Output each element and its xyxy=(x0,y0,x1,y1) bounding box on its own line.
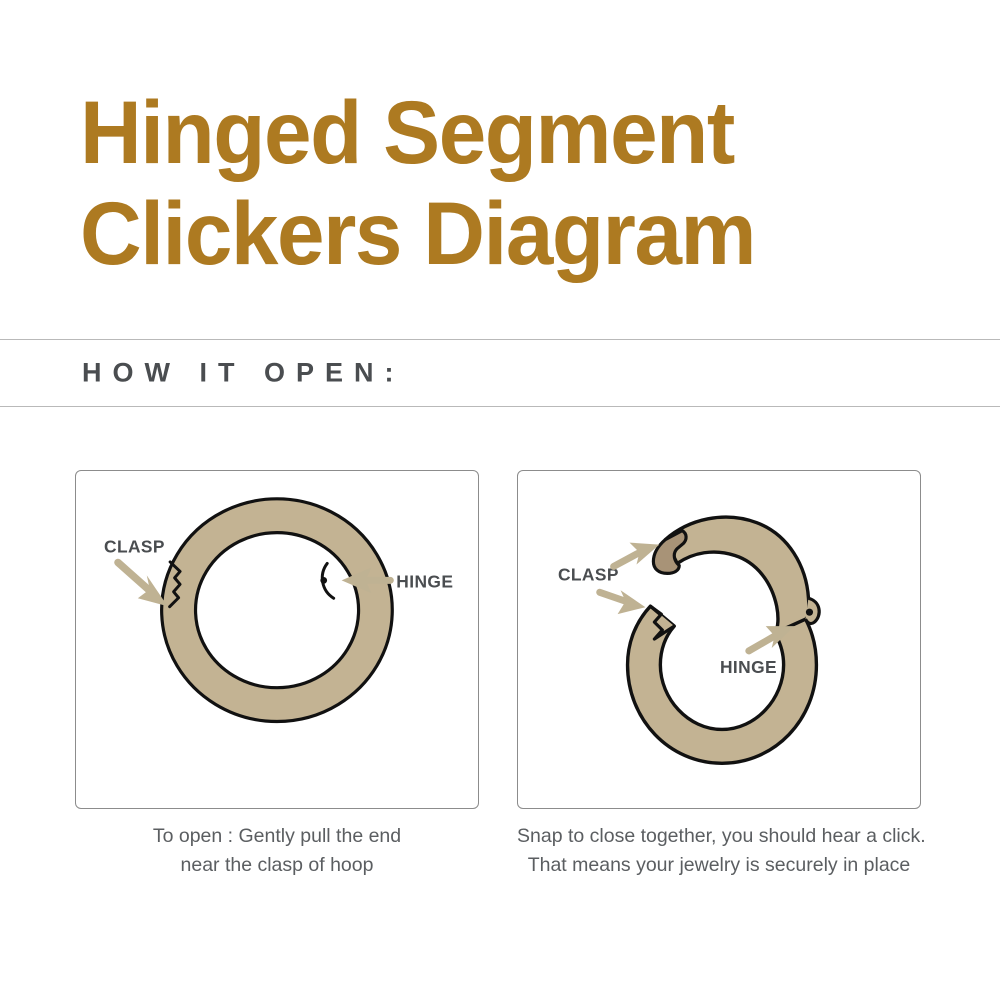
section-band: HOW IT OPEN: xyxy=(0,339,1000,407)
caption-line-2: That means your jewelry is securely in p… xyxy=(517,851,921,880)
section-heading: HOW IT OPEN: xyxy=(82,358,405,389)
clasp-arrow-tail-upper xyxy=(614,553,640,567)
hoop-upper-segment xyxy=(653,517,819,633)
closed-hoop-caption: To open : Gently pull the end near the c… xyxy=(75,822,479,880)
clasp-annotation: CLASP xyxy=(558,543,659,615)
hinge-pin-dot xyxy=(806,609,813,616)
hinge-pin-dot xyxy=(320,577,327,584)
clasp-label: CLASP xyxy=(558,564,619,584)
page-title-line-1: Hinged Segment xyxy=(80,82,906,183)
clasp-annotation: CLASP xyxy=(104,537,168,607)
caption-line-1: To open : Gently pull the end xyxy=(75,822,479,851)
hinge-arrow-tail xyxy=(749,636,775,651)
hoop-ring xyxy=(162,499,393,722)
caption-line-1: Snap to close together, you should hear … xyxy=(517,822,921,851)
clasp-arrow-tail-lower xyxy=(600,592,626,601)
hoop-band xyxy=(162,499,393,722)
clasp-label: CLASP xyxy=(104,537,165,557)
open-hoop-panel: CLASP HINGE xyxy=(517,470,921,809)
caption-line-2: near the clasp of hoop xyxy=(75,851,479,880)
hinge-label: HINGE xyxy=(720,657,777,677)
hinge-label: HINGE xyxy=(396,571,453,591)
closed-hoop-panel: CLASP HINGE xyxy=(75,470,479,809)
page-title-line-2: Clickers Diagram xyxy=(80,183,906,284)
page-title: Hinged Segment Clickers Diagram xyxy=(80,82,940,284)
open-hoop-caption: Snap to close together, you should hear … xyxy=(517,822,921,880)
open-hoop-illustration: CLASP HINGE xyxy=(518,471,920,808)
closed-hoop-illustration: CLASP HINGE xyxy=(76,471,478,808)
